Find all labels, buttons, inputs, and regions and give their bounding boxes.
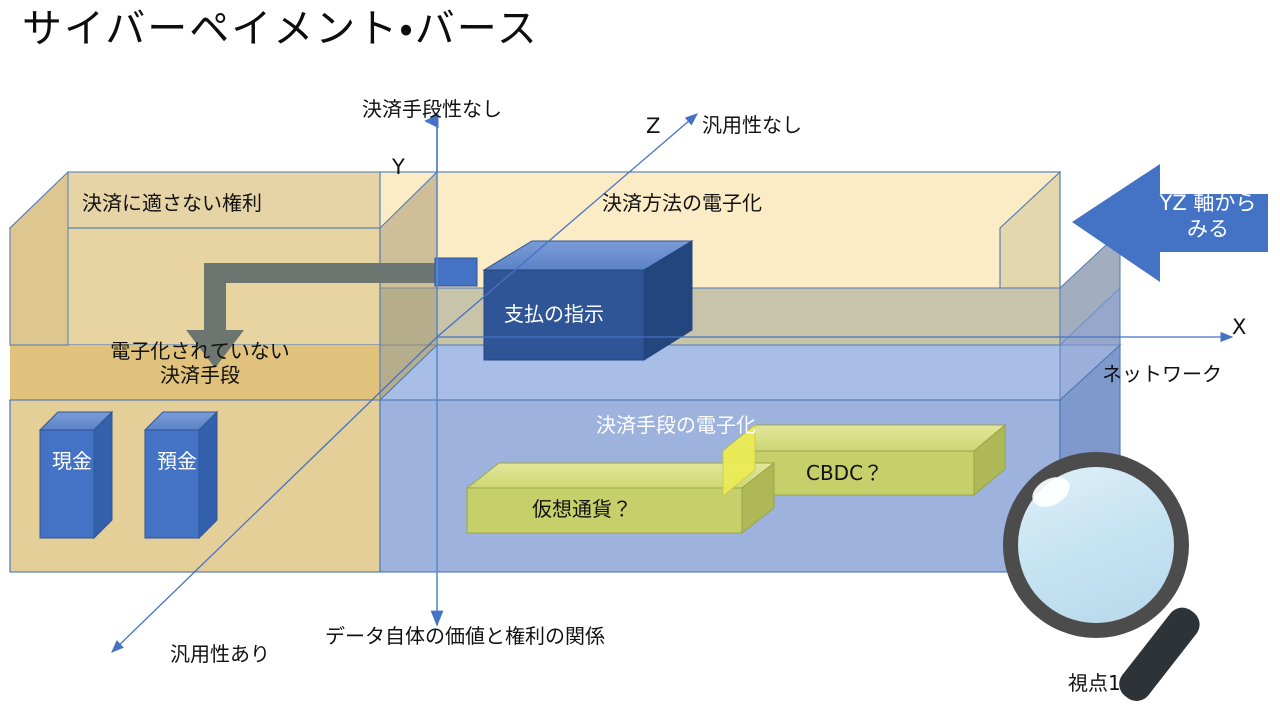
- axis-z-top-label: 汎用性なし: [702, 114, 802, 138]
- axis-x-name: X: [1232, 315, 1246, 340]
- cube-virtual-currency-label: 仮想通貨？: [532, 498, 632, 522]
- cube-cbdc-label: CBDC？: [806, 462, 883, 486]
- axis-y-bottom-label: データ自体の価値と権利の関係: [325, 625, 605, 649]
- region-lower-right-label: 決済手段の電子化: [596, 414, 756, 438]
- axis-y-top-label: 決済手段性なし: [362, 98, 502, 122]
- axis-x-label: ネットワーク: [1102, 363, 1222, 387]
- cube-deposit: [145, 412, 217, 538]
- region-mid-left-label: 電子化されていない 決済手段: [60, 340, 340, 387]
- cube-payment-instruction-label: 支払の指示: [504, 303, 604, 327]
- page-title: サイバーペイメント・バース: [22, 6, 539, 53]
- cube-payment-instruction: [484, 241, 692, 360]
- axis-z-name: Z: [646, 114, 660, 139]
- axis-z-bottom-label: 汎用性あり: [170, 643, 270, 667]
- axis-y-name: Y: [392, 155, 405, 180]
- region-upper-left-label: 決済に適さない権利: [82, 192, 262, 216]
- region-upper-right-label: 決済方法の電子化: [602, 192, 762, 216]
- view-direction-arrow-label: YZ 軸から みる: [1152, 190, 1264, 243]
- magnifier-icon: [1003, 452, 1206, 707]
- cube-cash: [40, 412, 112, 538]
- magnifier-label: 視点1: [1068, 672, 1121, 696]
- diagram-canvas: サイバーペイメント・バース 決済手段性なし Y データ自体の価値と権利の関係 Z…: [0, 0, 1280, 720]
- cube-deposit-label: 預金: [157, 450, 187, 474]
- cube-cash-label: 現金: [52, 450, 82, 474]
